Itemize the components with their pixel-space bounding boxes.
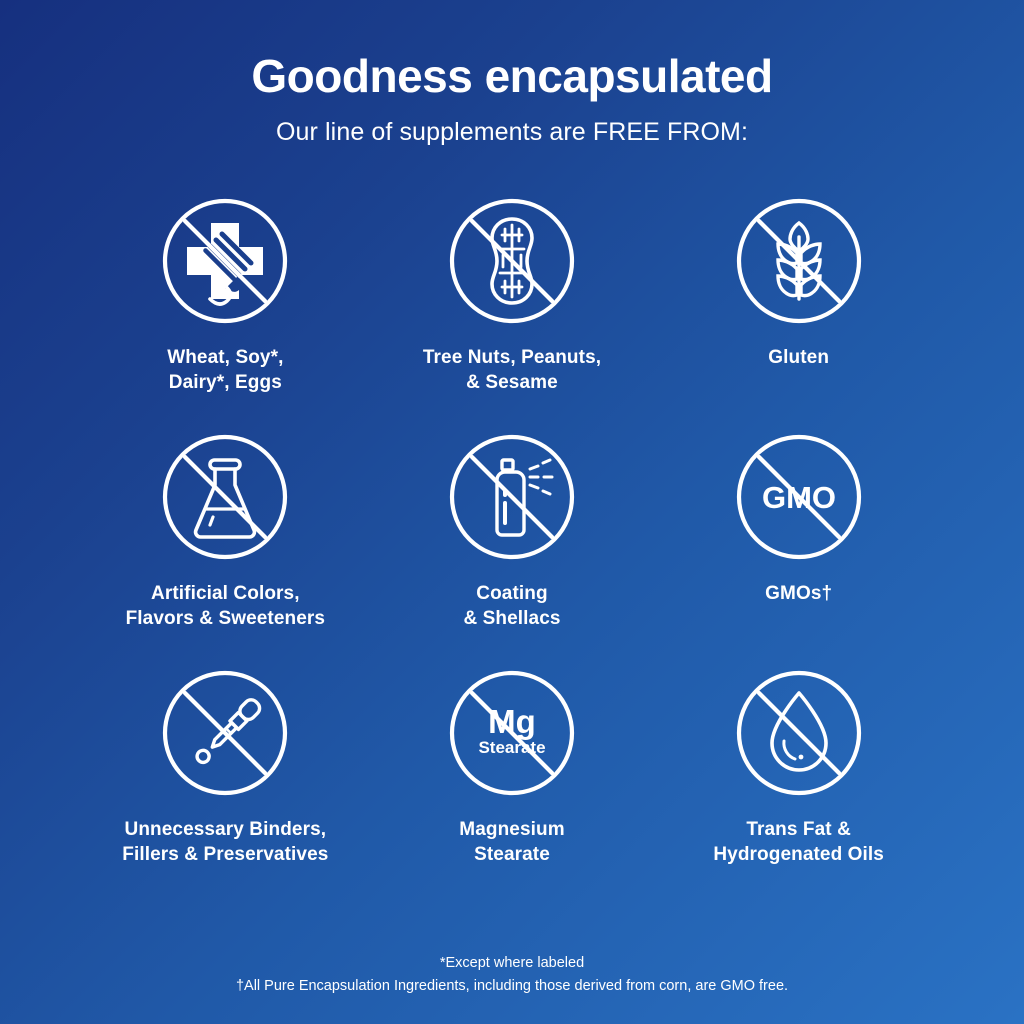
- no-dropper-icon: [155, 663, 295, 803]
- free-from-item-nuts: Tree Nuts, Peanuts, & Sesame: [369, 191, 656, 427]
- free-from-item-gmo: GMO GMOs†: [655, 427, 942, 663]
- free-from-item-label: GMOs†: [765, 581, 832, 606]
- page-subtitle: Our line of supplements are FREE FROM:: [276, 118, 748, 147]
- no-gmo-icon: GMO: [729, 427, 869, 567]
- free-from-item-label: Tree Nuts, Peanuts, & Sesame: [423, 345, 601, 395]
- free-from-item-label: Gluten: [768, 345, 829, 370]
- page-title: Goodness encapsulated: [251, 52, 772, 100]
- free-from-item-magnesium-stearate: Mg Stearate Magnesium Stearate: [369, 663, 656, 899]
- free-from-item-artificial-colors: Artificial Colors, Flavors & Sweeteners: [82, 427, 369, 663]
- no-cross-fork-icon: [155, 191, 295, 331]
- free-from-item-trans-fat: Trans Fat & Hydrogenated Oils: [655, 663, 942, 899]
- no-mg-stearate-icon: Mg Stearate: [442, 663, 582, 803]
- free-from-item-label: Wheat, Soy*, Dairy*, Eggs: [167, 345, 283, 395]
- free-from-item-binders: Unnecessary Binders, Fillers & Preservat…: [82, 663, 369, 899]
- footnotes: *Except where labeled †All Pure Encapsul…: [0, 952, 1024, 998]
- free-from-item-label: Unnecessary Binders, Fillers & Preservat…: [122, 817, 328, 867]
- no-oil-droplet-icon: [729, 663, 869, 803]
- free-from-grid: Wheat, Soy*, Dairy*, Eggs: [82, 191, 942, 899]
- free-from-item-label: Artificial Colors, Flavors & Sweeteners: [126, 581, 325, 631]
- free-from-item-label: Coating & Shellacs: [463, 581, 560, 631]
- free-from-item-label: Trans Fat & Hydrogenated Oils: [713, 817, 884, 867]
- free-from-item-gluten: Gluten: [655, 191, 942, 427]
- no-flask-icon: [155, 427, 295, 567]
- infographic-page: Goodness encapsulated Our line of supple…: [0, 0, 1024, 1024]
- free-from-item-coating: Coating & Shellacs: [369, 427, 656, 663]
- footnote-asterisk: *Except where labeled: [0, 952, 1024, 975]
- footnote-dagger: †All Pure Encapsulation Ingredients, inc…: [0, 975, 1024, 998]
- free-from-item-allergens: Wheat, Soy*, Dairy*, Eggs: [82, 191, 369, 427]
- no-peanut-icon: [442, 191, 582, 331]
- no-wheat-stalk-icon: [729, 191, 869, 331]
- no-spray-can-icon: [442, 427, 582, 567]
- free-from-item-label: Magnesium Stearate: [459, 817, 564, 867]
